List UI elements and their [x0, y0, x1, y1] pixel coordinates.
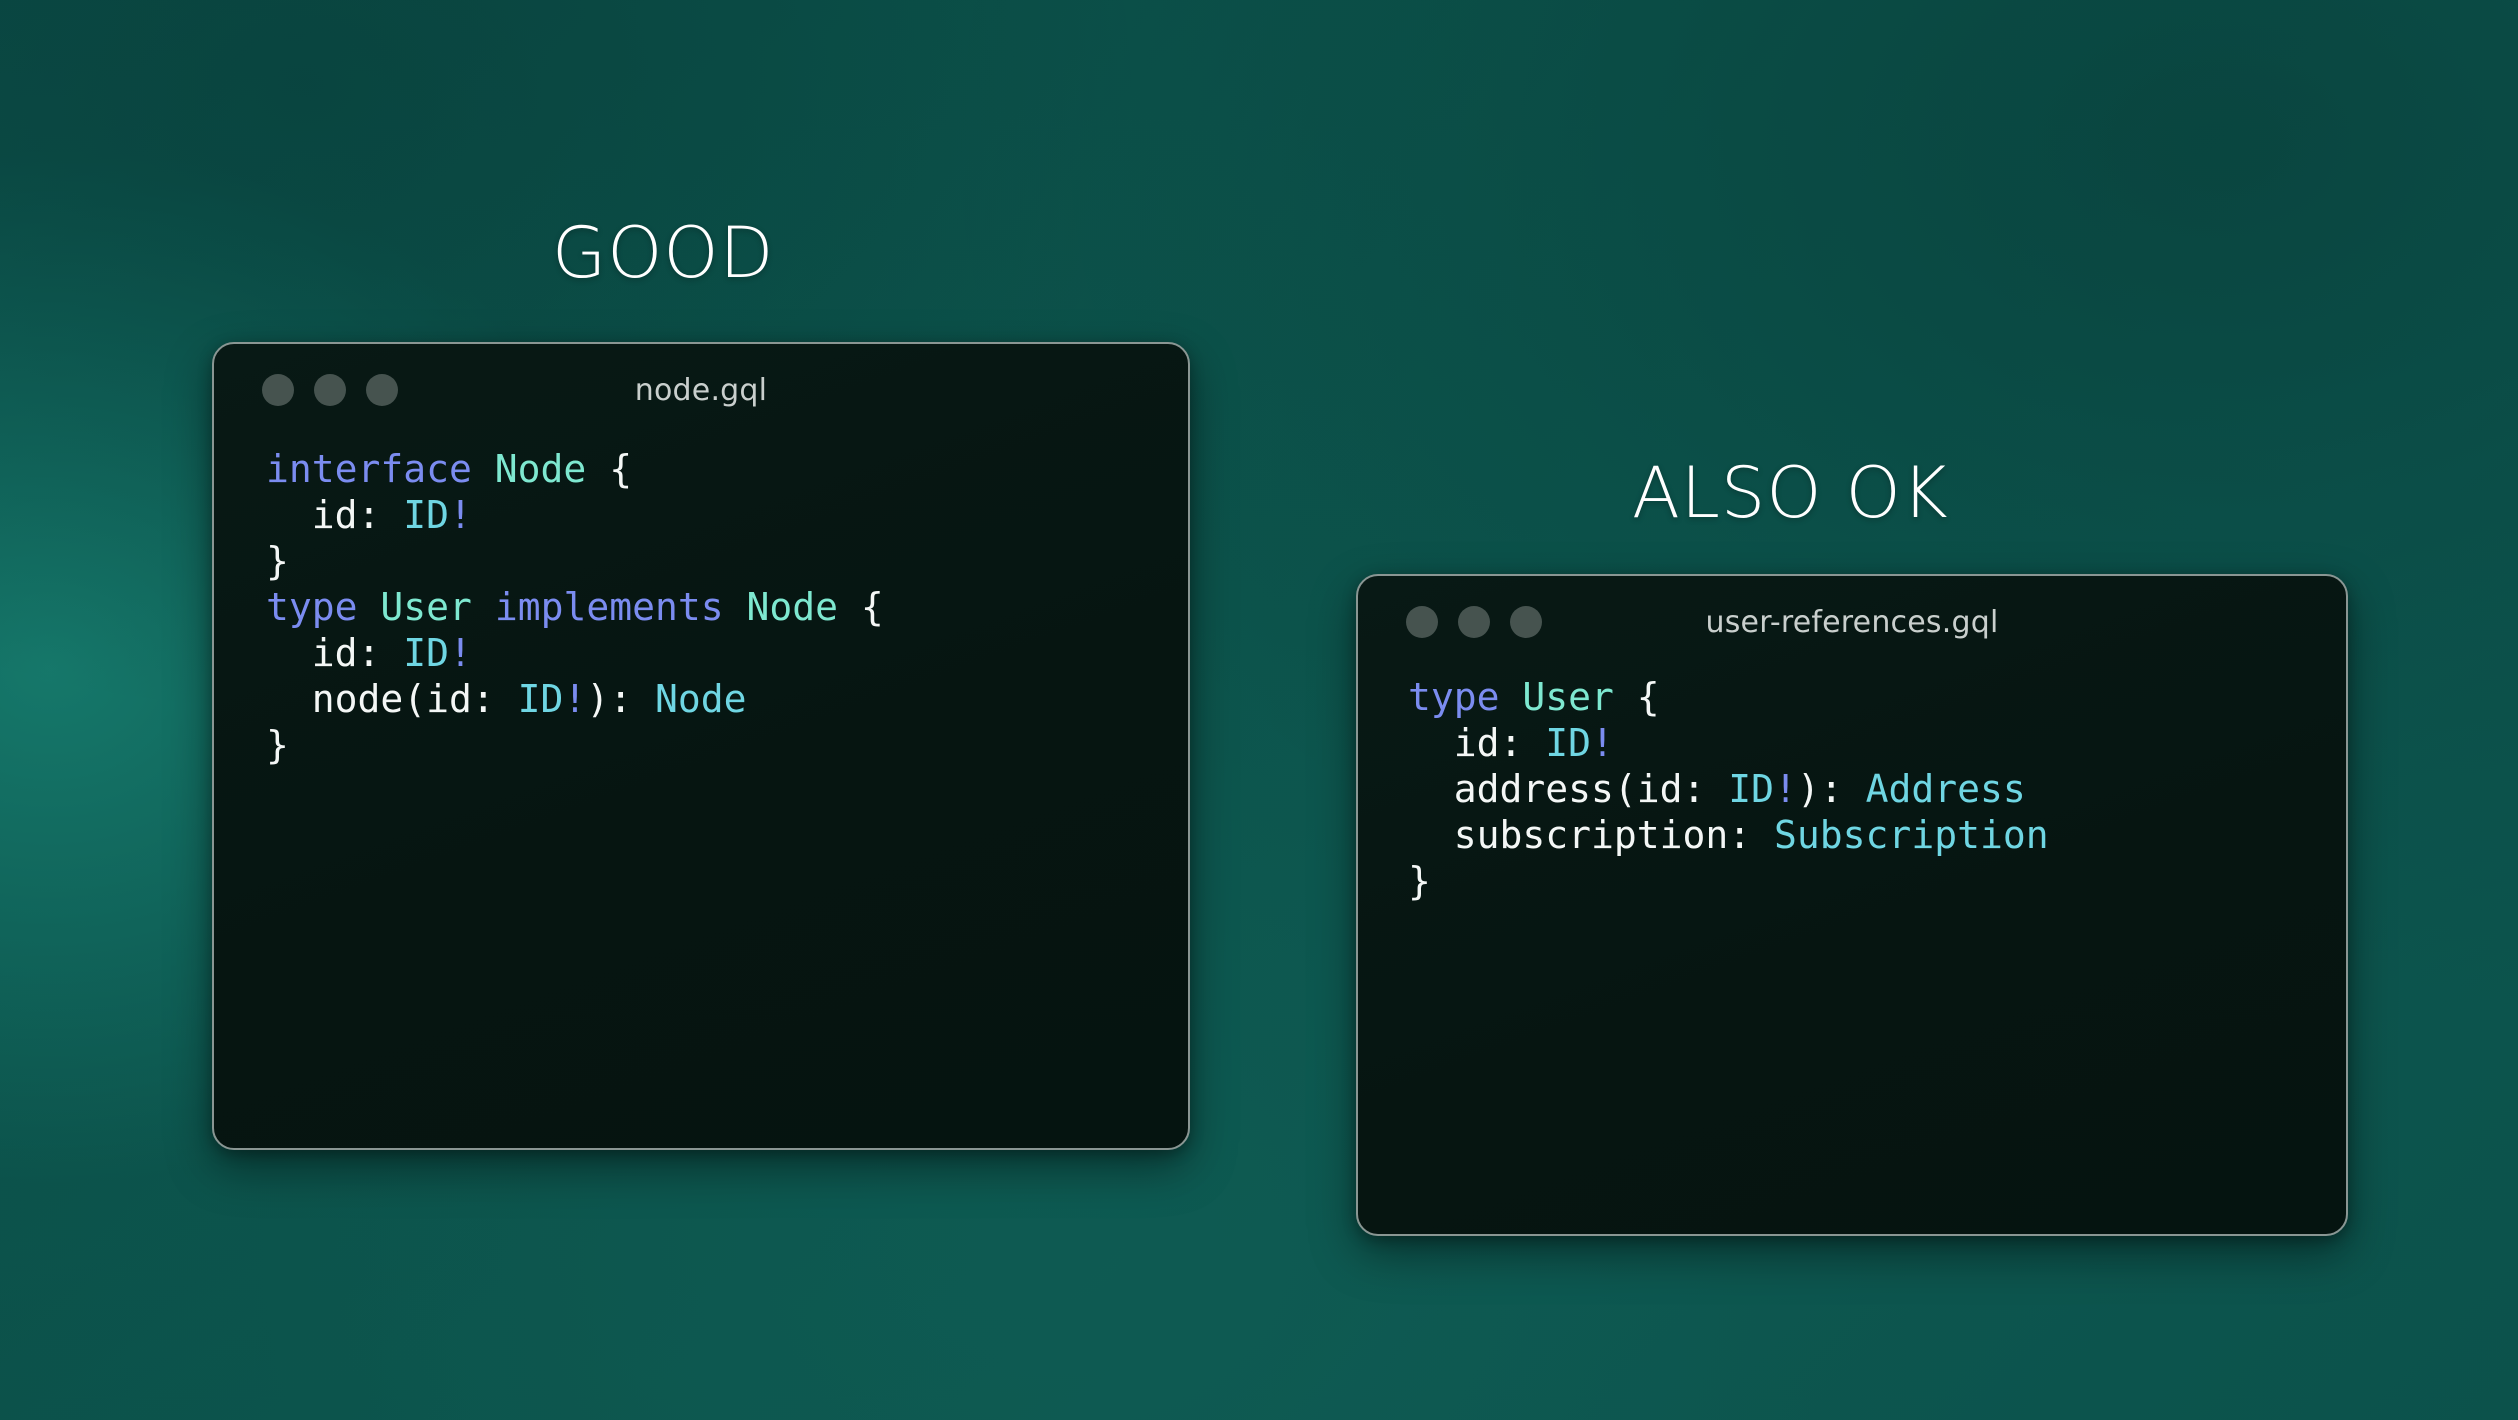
maximize-dot-icon[interactable]: [1510, 606, 1542, 638]
close-dot-icon[interactable]: [262, 374, 294, 406]
code-token-reference_type: Node: [655, 677, 747, 721]
heading-also-ok: ALSO OK: [1632, 458, 1949, 528]
code-token-plain: id:: [266, 493, 403, 537]
code-token-plain: [1500, 675, 1523, 719]
code-line: interface Node {: [266, 446, 1188, 492]
code-token-keyword: type: [1408, 675, 1500, 719]
code-token-reference_type: ID: [1728, 767, 1774, 811]
code-token-plain: id:: [1408, 721, 1545, 765]
code-line: node(id: ID!): Node: [266, 676, 1188, 722]
code-token-reference_type: ID: [403, 493, 449, 537]
code-token-plain: }: [266, 723, 289, 767]
code-line: type User implements Node {: [266, 584, 1188, 630]
code-token-plain: {: [1614, 675, 1660, 719]
traffic-lights-also-ok: [1406, 606, 1542, 638]
code-line: id: ID!: [266, 630, 1188, 676]
code-token-plain: node(id:: [266, 677, 518, 721]
code-token-keyword: type: [266, 585, 358, 629]
code-token-plain: [472, 447, 495, 491]
code-token-plain: [724, 585, 747, 629]
window-titlebar-also-ok: user-references.gql: [1358, 576, 2346, 668]
code-line: subscription: Subscription: [1408, 812, 2346, 858]
code-token-bang: !: [563, 677, 586, 721]
code-token-bang: !: [449, 631, 472, 675]
code-token-plain: {: [838, 585, 884, 629]
code-line: }: [1408, 858, 2346, 904]
code-line: id: ID!: [1408, 720, 2346, 766]
code-token-declared_type: Node: [746, 585, 838, 629]
window-titlebar-good: node.gql: [214, 344, 1188, 436]
code-token-plain: ):: [1797, 767, 1866, 811]
heading-good: GOOD: [552, 218, 774, 288]
maximize-dot-icon[interactable]: [366, 374, 398, 406]
code-token-reference_type: Subscription: [1774, 813, 2049, 857]
minimize-dot-icon[interactable]: [314, 374, 346, 406]
code-line: type User {: [1408, 674, 2346, 720]
code-block-also-ok: type User { id: ID! address(id: ID!): Ad…: [1358, 668, 2346, 904]
code-token-reference_type: ID: [403, 631, 449, 675]
code-token-declared_type: Node: [495, 447, 587, 491]
code-token-declared_type: User: [380, 585, 472, 629]
minimize-dot-icon[interactable]: [1458, 606, 1490, 638]
code-token-keyword: interface: [266, 447, 472, 491]
code-token-reference_type: ID: [518, 677, 564, 721]
code-token-declared_type: User: [1522, 675, 1614, 719]
code-line: id: ID!: [266, 492, 1188, 538]
code-token-keyword: implements: [495, 585, 724, 629]
code-line: }: [266, 722, 1188, 768]
code-token-plain: ):: [586, 677, 655, 721]
code-token-plain: [358, 585, 381, 629]
code-line: }: [266, 538, 1188, 584]
traffic-lights-good: [262, 374, 398, 406]
code-token-bang: !: [1774, 767, 1797, 811]
code-window-good: node.gql interface Node { id: ID!}type U…: [212, 342, 1190, 1150]
code-window-also-ok: user-references.gql type User { id: ID! …: [1356, 574, 2348, 1236]
code-token-plain: }: [266, 539, 289, 583]
code-token-plain: id:: [266, 631, 403, 675]
code-token-plain: [472, 585, 495, 629]
code-block-good: interface Node { id: ID!}type User imple…: [214, 436, 1188, 768]
code-token-bang: !: [449, 493, 472, 537]
close-dot-icon[interactable]: [1406, 606, 1438, 638]
code-token-reference_type: ID: [1545, 721, 1591, 765]
code-token-plain: }: [1408, 859, 1431, 903]
code-token-plain: {: [586, 447, 632, 491]
code-token-reference_type: Address: [1866, 767, 2026, 811]
screenshot-canvas: GOOD node.gql interface Node { id: ID!}t…: [0, 0, 2518, 1420]
code-token-plain: address(id:: [1408, 767, 1728, 811]
code-line: address(id: ID!): Address: [1408, 766, 2346, 812]
code-token-bang: !: [1591, 721, 1614, 765]
code-token-plain: subscription:: [1408, 813, 1774, 857]
